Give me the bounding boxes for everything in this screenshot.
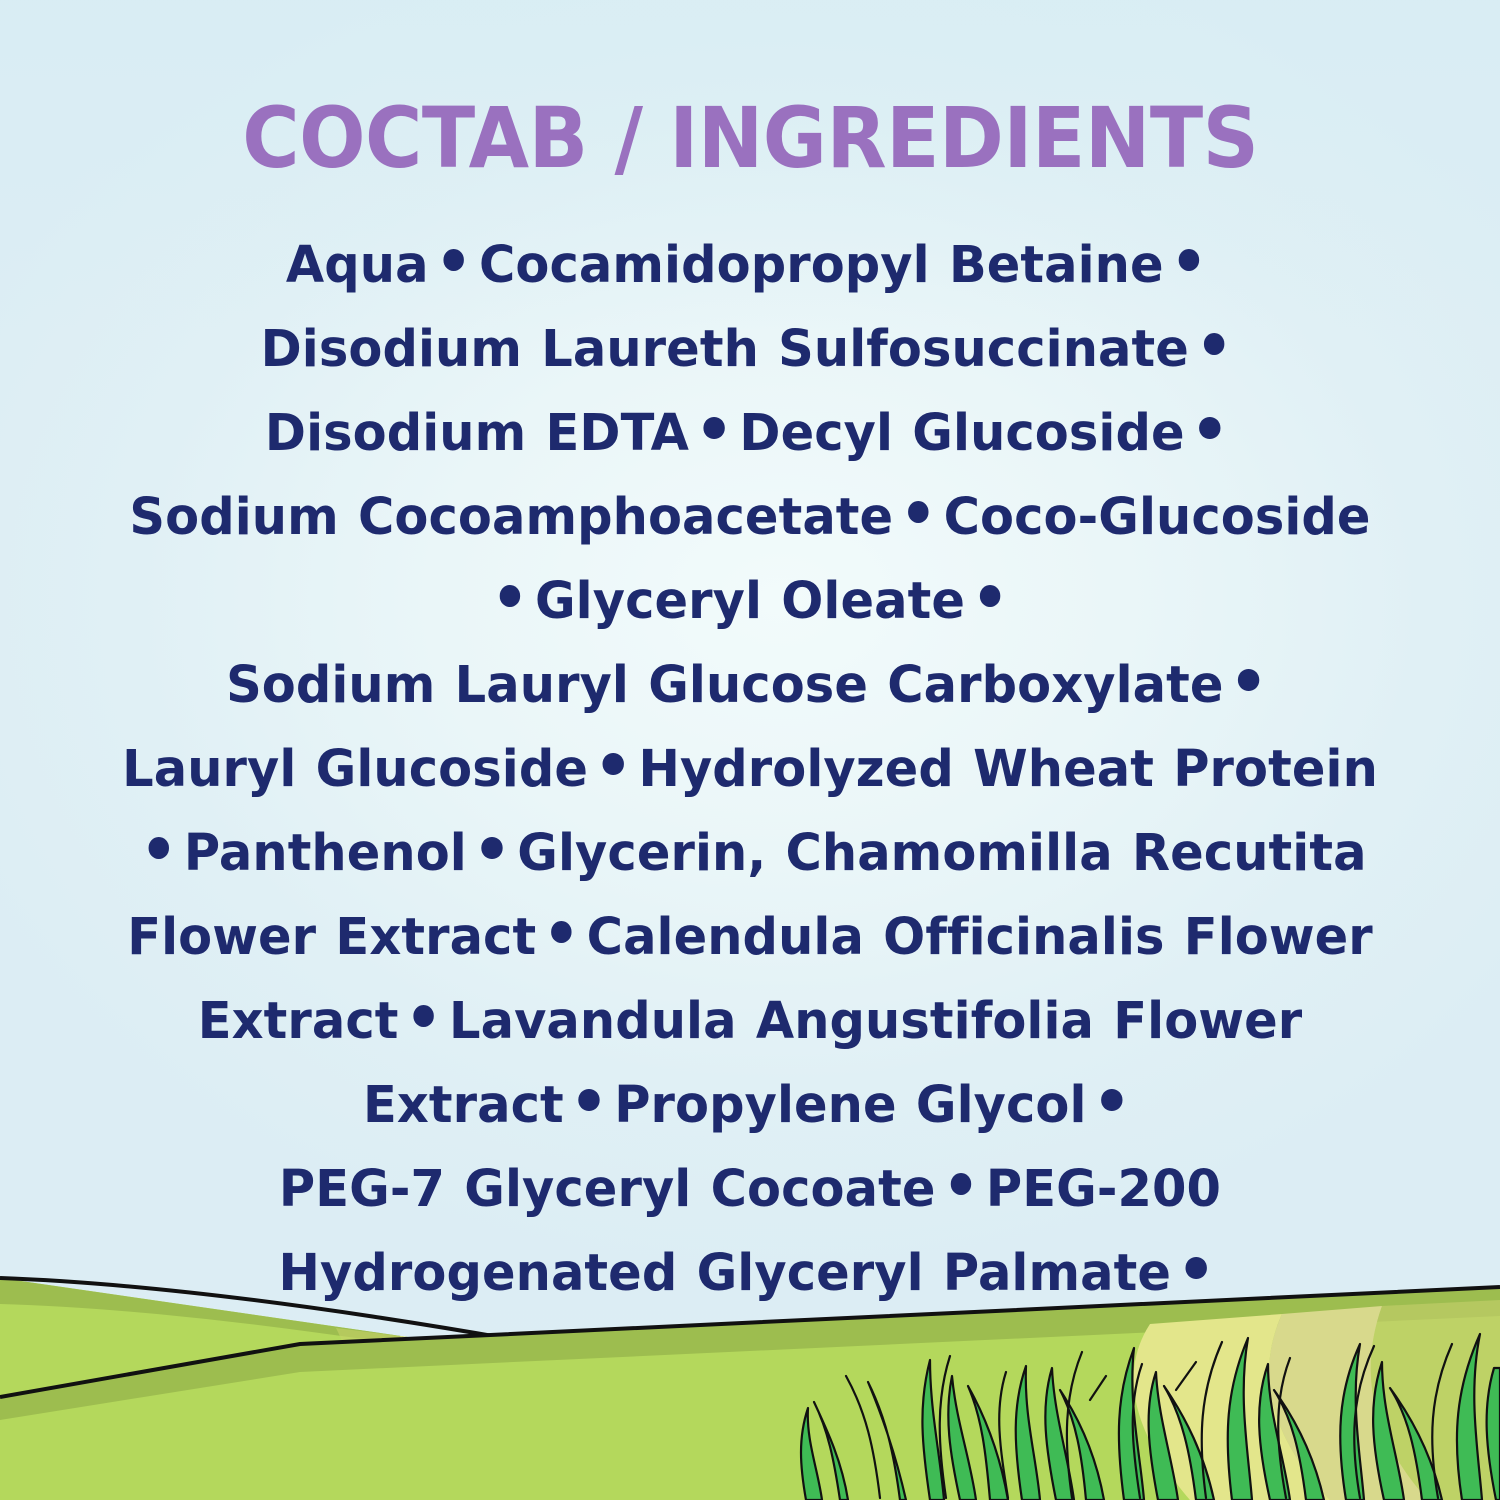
bullet-separator-icon xyxy=(980,585,1001,606)
list-item: Hydrolyzed Wheat Protein xyxy=(638,740,1377,799)
bullet-separator-icon xyxy=(1199,417,1220,438)
list-item: Coco-Glucoside xyxy=(944,488,1371,547)
list-item: PEG-7 Glyceryl Cocoate xyxy=(279,1160,936,1219)
bullet-separator-icon xyxy=(1178,249,1199,270)
list-item: Disodium Laureth Sulfosuccinate xyxy=(261,320,1189,379)
bullet-separator-icon xyxy=(603,753,624,774)
poster-canvas: COCTAB / INGREDIENTS AquaCocamidopropyl … xyxy=(0,0,1500,1500)
landscape-scene xyxy=(0,1278,1500,1500)
list-item: Aqua xyxy=(286,236,429,295)
list-item: Glyceryl Oleate xyxy=(535,572,965,631)
list-item: Cocamidopropyl Betaine xyxy=(479,236,1164,295)
ingredients-panel: COCTAB / INGREDIENTS AquaCocamidopropyl … xyxy=(0,0,1500,1320)
bullet-separator-icon xyxy=(1101,1089,1122,1110)
list-item: Propylene Glycol xyxy=(614,1076,1086,1135)
bullet-separator-icon xyxy=(1238,669,1259,690)
bullet-separator-icon xyxy=(908,501,929,522)
list-item: Disodium EDTA xyxy=(265,404,689,463)
bullet-separator-icon xyxy=(499,585,520,606)
bullet-separator-icon xyxy=(1204,333,1225,354)
bullet-separator-icon xyxy=(704,417,725,438)
list-item: Lauryl Glucoside xyxy=(122,740,588,799)
bullet-separator-icon xyxy=(443,249,464,270)
list-item: Decyl Glucoside xyxy=(739,404,1184,463)
list-item: Sodium Lauryl Glucose Carboxylate xyxy=(226,656,1223,715)
landscape-decoration xyxy=(0,1240,1500,1500)
page-title: COCTAB / INGREDIENTS xyxy=(242,96,1258,180)
list-item: Sodium Cocoamphoacetate xyxy=(129,488,893,547)
list-item: Panthenol xyxy=(184,824,467,883)
bullet-separator-icon xyxy=(482,837,503,858)
bullet-separator-icon xyxy=(148,837,169,858)
bullet-separator-icon xyxy=(950,1173,971,1194)
bullet-separator-icon xyxy=(579,1089,600,1110)
bullet-separator-icon xyxy=(413,1005,434,1026)
bullet-separator-icon xyxy=(551,921,572,942)
